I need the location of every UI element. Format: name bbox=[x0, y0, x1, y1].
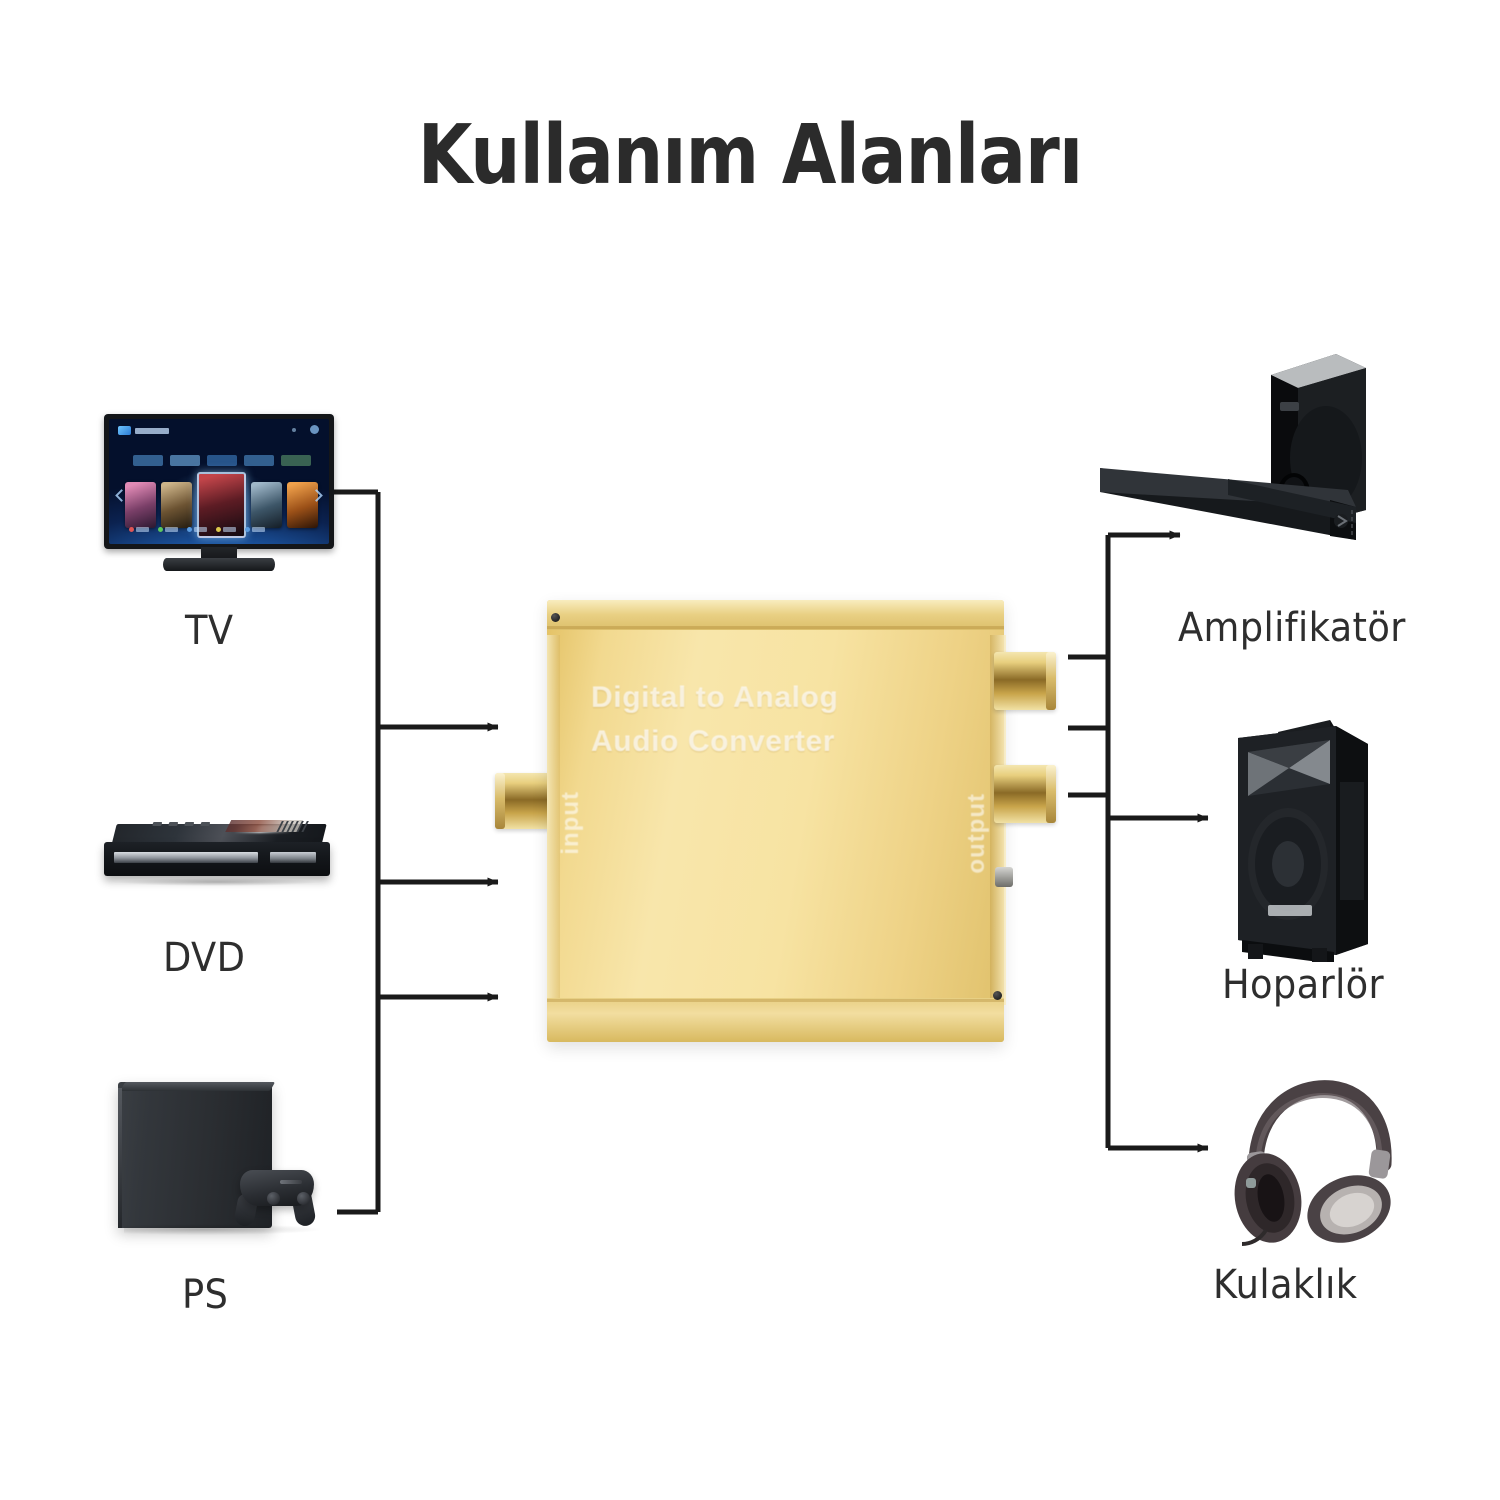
diagram-canvas: Kullanım Alanları bbox=[0, 0, 1500, 1500]
game-console-icon bbox=[118, 1078, 333, 1238]
soundbar-subwoofer-icon bbox=[1098, 340, 1418, 565]
page-title: Kullanım Alanları bbox=[105, 108, 1395, 203]
screw-icon bbox=[993, 991, 1002, 1000]
rca-output-connector-left bbox=[994, 652, 1056, 710]
headphone-jack-icon bbox=[995, 867, 1013, 887]
source-label-ps: PS bbox=[182, 1272, 228, 1318]
rca-output-connector-right bbox=[994, 765, 1056, 823]
device-print-line1: Digital to Analog bbox=[591, 677, 838, 720]
headphones-icon bbox=[1218, 1078, 1413, 1248]
device-output-label: output bbox=[963, 793, 991, 874]
pa-speaker-icon bbox=[1218, 712, 1438, 962]
source-label-tv: TV bbox=[185, 608, 233, 654]
dvd-player-icon bbox=[100, 824, 338, 894]
screw-icon bbox=[551, 613, 560, 622]
source-label-dvd: DVD bbox=[163, 935, 245, 981]
television-icon bbox=[104, 414, 334, 572]
output-label-headphones: Kulaklık bbox=[1213, 1262, 1357, 1308]
output-label-amplifier: Amplifikatör bbox=[1178, 605, 1406, 651]
device-input-label: input bbox=[557, 791, 585, 855]
dac-converter-device: Digital to Analog Audio Converter input … bbox=[495, 595, 1055, 1045]
device-print-line2: Audio Converter bbox=[591, 721, 835, 764]
rca-input-connector bbox=[495, 773, 555, 829]
input-wire-group bbox=[334, 492, 498, 1212]
output-label-speaker: Hoparlör bbox=[1222, 962, 1384, 1008]
